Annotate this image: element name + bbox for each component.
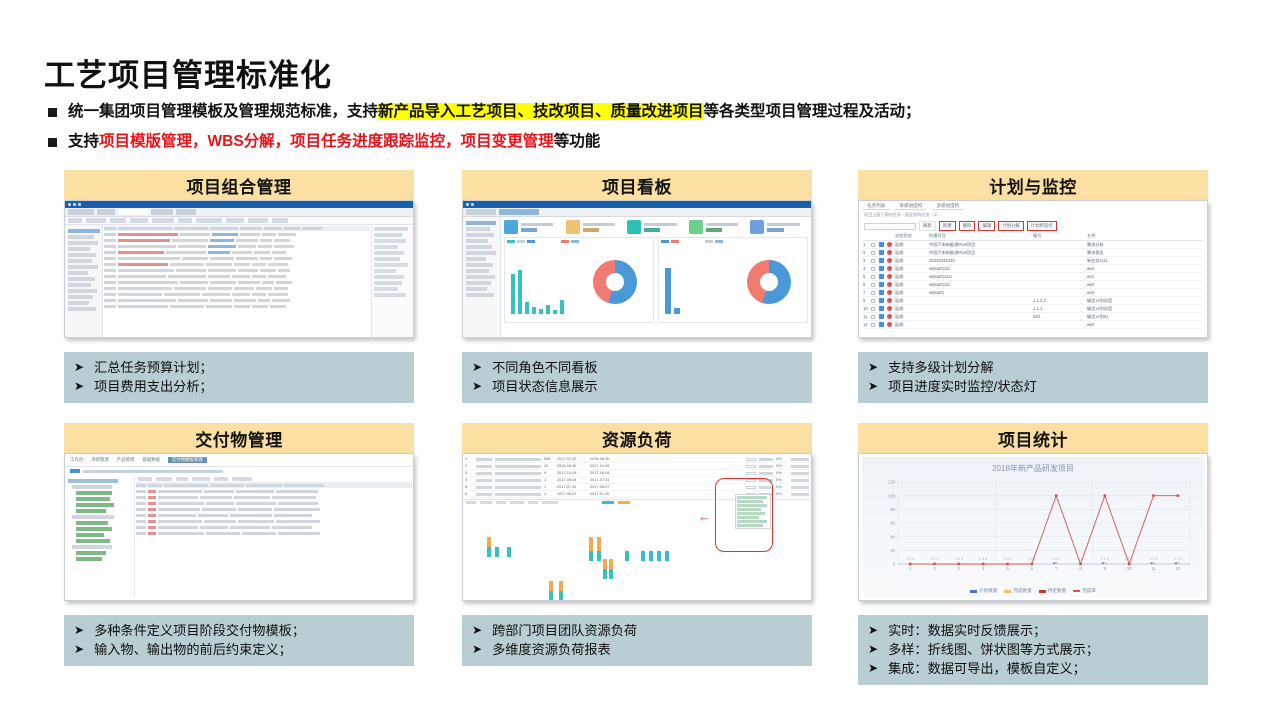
bullet-1-seg-3: 等各类型项目管理过程及活动； <box>704 103 921 120</box>
table-row[interactable]: 9延期1.1.2.2确定计划进度 <box>863 297 1203 305</box>
arrow-bullet-icon: ➤ <box>472 640 482 658</box>
kpi-card[interactable] <box>627 220 685 234</box>
caption-text: 项目状态信息展示 <box>492 377 598 396</box>
cell-name: ws4 <box>1087 266 1203 271</box>
caption-text: 支持多级计划分解 <box>888 358 994 377</box>
page-title: 工艺项目管理标准化 <box>44 50 332 95</box>
table-row[interactable] <box>104 244 370 249</box>
row-number: 7 <box>863 290 871 295</box>
bullet-text-1: 统一集团项目管理模板及管理规范标准，支持新产品导入工艺项目、技改项目、质量改进项… <box>68 102 921 121</box>
grid-toolbar[interactable] <box>136 476 412 483</box>
refresh-button[interactable]: 刷新 <box>919 221 936 231</box>
caption-text: 输入物、输出物的前后约束定义； <box>94 640 292 659</box>
caption-text: 跨部门项目团队资源负荷 <box>492 621 637 640</box>
kanban-panel-left[interactable] <box>504 237 654 323</box>
caption-line: ➤ 输入物、输出物的前后约束定义； <box>74 640 408 659</box>
arrow-bullet-icon: ➤ <box>868 659 878 677</box>
table-row[interactable] <box>104 268 370 273</box>
cell-name: 确定计划进度 <box>1087 298 1203 304</box>
card-plan-and-monitor: 计划与监控 任务列表 单级进度构 多级进度构 项目上报 | 我的任务 › 我此刻… <box>858 170 1208 403</box>
cell-project: 33333333333 <box>929 258 1033 263</box>
svg-text:6: 6 <box>1031 566 1034 571</box>
deliverables-body <box>65 475 413 597</box>
table-row[interactable] <box>136 489 412 494</box>
right-properties-panel[interactable] <box>371 225 413 337</box>
slide-root: 工艺项目管理标准化 统一集团项目管理模板及管理规范标准，支持新产品导入工艺项目、… <box>0 0 1280 720</box>
svg-text:2 2 0: 2 2 0 <box>1150 557 1158 561</box>
caption-text: 多维度资源负荷报表 <box>492 640 611 659</box>
kanban-body <box>463 217 811 337</box>
cell-status: 延期 <box>895 322 929 328</box>
cell-name: 需求分析 <box>1087 242 1203 248</box>
table-row[interactable] <box>136 501 412 506</box>
window-titlebar <box>463 201 811 208</box>
tab-single-level[interactable]: 单级进度构 <box>895 203 926 210</box>
table-row[interactable]: 12延期ws2 <box>863 321 1203 329</box>
table-row[interactable] <box>104 286 370 291</box>
row-number: 1 <box>863 242 871 247</box>
svg-text:80: 80 <box>890 507 895 512</box>
svg-text:0 0 0: 0 0 0 <box>979 557 987 561</box>
table-row[interactable] <box>104 292 370 297</box>
caption-project-kanban: ➤ 不同角色不同看板 ➤ 项目状态信息展示 <box>462 352 812 403</box>
panel-legend <box>507 240 651 243</box>
cell-name: 需求报告 <box>1087 250 1203 256</box>
arrow-bullet-icon: ➤ <box>472 377 482 395</box>
row-number: 9 <box>863 298 871 303</box>
left-tree[interactable] <box>65 475 135 597</box>
portfolio-data-grid[interactable] <box>103 225 371 337</box>
table-header-row: 流程状态 所属项目 编号 名称 <box>863 233 1203 241</box>
col-status: 流程状态 <box>895 233 929 239</box>
bullet-text-2: 支持项目模版管理，WBS分解，项目任务进度跟踪监控，项目变更管理等功能 <box>68 132 600 151</box>
caption-line: ➤ 支持多级计划分解 <box>868 358 1202 377</box>
deliverables-grid[interactable] <box>135 475 413 597</box>
svg-text:1 1 0: 1 1 0 <box>1101 557 1109 561</box>
table-row[interactable]: 2延期中国汽车新能源PLM项目需求报告 <box>863 249 1203 257</box>
table-row[interactable]: 392017-10-092017-09-040% <box>465 470 809 477</box>
plan-decompose-button[interactable]: 计划分解 <box>998 221 1024 231</box>
row-number: 4 <box>863 266 871 271</box>
kpi-card[interactable] <box>566 220 624 234</box>
cell-project: wdsw01111 <box>929 266 1033 271</box>
cell-status: 延期 <box>895 250 929 256</box>
cell-status: 延期 <box>895 258 929 264</box>
svg-text:0 0 0: 0 0 0 <box>1077 557 1085 561</box>
arrow-bullet-icon: ➤ <box>74 358 84 376</box>
table-row[interactable] <box>136 519 412 524</box>
caption-line: ➤ 项目进度实时监控/状态灯 <box>868 377 1202 396</box>
bullet-1-seg-2-highlight: 新产品导入工艺项目、技改项目、质量改进项目 <box>378 103 704 120</box>
kanban-panel-right[interactable] <box>658 237 808 323</box>
card-header-plan-and-monitor: 计划与监控 <box>858 170 1208 200</box>
card-header-project-statistics: 项目统计 <box>858 423 1208 453</box>
card-header-project-portfolio: 项目组合管理 <box>64 170 414 200</box>
table-row[interactable] <box>104 298 370 303</box>
card-row-1: 项目组合管理 <box>0 170 1280 425</box>
svg-text:3: 3 <box>958 566 961 571</box>
screenshot-project-portfolio[interactable] <box>64 200 414 338</box>
edit-button[interactable]: 编辑 <box>978 221 995 231</box>
caption-text: 多种条件定义项目阶段交付物模板； <box>94 621 305 640</box>
svg-text:1: 1 <box>909 566 912 571</box>
cell-status: 延期 <box>895 290 929 296</box>
svg-text:12: 12 <box>1175 566 1180 571</box>
screenshot-project-kanban[interactable] <box>462 200 812 338</box>
panel-legend <box>661 240 805 243</box>
svg-text:60: 60 <box>890 521 895 526</box>
caption-plan-and-monitor: ➤ 支持多级计划分解 ➤ 项目进度实时监控/状态灯 <box>858 352 1208 403</box>
context-dropdown[interactable] <box>735 494 771 529</box>
bullet-list: 统一集团项目管理模板及管理规范标准，支持新产品导入工艺项目、技改项目、质量改进项… <box>48 102 1248 163</box>
arrow-bullet-icon: ➤ <box>74 640 84 658</box>
svg-text:40: 40 <box>890 534 895 539</box>
svg-text:8: 8 <box>1079 566 1082 571</box>
chart-legend: 计划数量完成数量待定数量完成率 <box>862 588 1204 594</box>
table-row[interactable] <box>136 513 412 518</box>
card-header-resource-load: 资源负荷 <box>462 423 812 453</box>
cell-name: 确定计划进度 <box>1087 306 1203 312</box>
red-arrow-icon: ← <box>698 510 711 523</box>
legend-item: 待定数量 <box>1039 588 1066 594</box>
caption-line: ➤ 跨部门项目团队资源负荷 <box>472 621 806 640</box>
col-project: 所属项目 <box>929 233 1033 239</box>
cell-status: 延期 <box>895 274 929 280</box>
card-header-project-kanban: 项目看板 <box>462 170 812 200</box>
caption-line: ➤ 多样：折线图、饼状图等方式展示； <box>868 640 1202 659</box>
bullet-2-seg-2-red: 项目模版管理，WBS分解，项目任务进度跟踪监控，项目变更管理 <box>99 133 554 150</box>
col-code: 编号 <box>1033 233 1087 239</box>
table-row[interactable]: 5延期wdsw011111ws1 <box>863 273 1203 281</box>
task-table[interactable]: 流程状态 所属项目 编号 名称 1延期中国汽车新能源PLM项目需求分析2延期中国… <box>859 233 1207 329</box>
svg-text:20: 20 <box>890 548 895 553</box>
secondary-toolbar[interactable] <box>65 217 413 225</box>
arrow-bullet-icon: ➤ <box>472 621 482 639</box>
kpi-card[interactable] <box>689 220 747 234</box>
row-number: 6 <box>863 282 871 287</box>
svg-text:120: 120 <box>888 480 896 485</box>
table-row[interactable]: 3延期33333333333新任务1111 <box>863 257 1203 265</box>
svg-text:4: 4 <box>982 566 985 571</box>
table-row[interactable] <box>136 525 412 530</box>
table-row[interactable]: 15082017-07-202018-06-300% <box>465 456 809 463</box>
bullet-item-2: 支持项目模版管理，WBS分解，项目任务进度跟踪监控，项目变更管理等功能 <box>48 132 1248 151</box>
caption-text: 汇总任务预算计划； <box>94 358 213 377</box>
left-tree-nav[interactable] <box>65 225 103 337</box>
table-row[interactable] <box>104 304 370 309</box>
svg-text:2: 2 <box>933 566 936 571</box>
table-row[interactable]: 2422018-06-302017-10-090% <box>465 463 809 470</box>
chart-plot-area: 02040608010012010 0 020 0 030 0 040 0 05… <box>868 474 1204 586</box>
tree-breadcrumb <box>65 467 413 475</box>
caption-text: 多样：折线图、饼状图等方式展示； <box>888 640 1099 659</box>
card-deliverables: 交付物管理 工作台 项目管理 产品管理 基础数据 交付物模板管理 <box>64 423 414 666</box>
cell-project: wdsw011111 <box>929 274 1033 279</box>
arrow-bullet-icon: ➤ <box>868 640 878 658</box>
cell-status: 延期 <box>895 314 929 320</box>
kanban-main <box>501 217 811 337</box>
cell-status: 延期 <box>895 242 929 248</box>
svg-text:2 2 0: 2 2 0 <box>1052 557 1060 561</box>
cell-status: 延期 <box>895 298 929 304</box>
card-project-kanban: 项目看板 <box>462 170 812 403</box>
table-row[interactable] <box>104 238 370 243</box>
card-project-statistics: 项目统计 2018年新产品研发项目 02040608010012010 0 02… <box>858 423 1208 685</box>
row-number: 2 <box>863 250 871 255</box>
tab-project-mgmt[interactable]: 项目管理 <box>91 457 109 463</box>
arrow-bullet-icon: ➤ <box>868 377 878 395</box>
cell-status: 延期 <box>895 282 929 288</box>
legend-item: 完成数量 <box>1004 588 1031 594</box>
window-titlebar <box>65 201 413 208</box>
caption-line: ➤ 多维度资源负荷报表 <box>472 640 806 659</box>
table-row[interactable] <box>104 256 370 261</box>
plan-monitor-button[interactable]: 计划和监控 <box>1027 221 1057 231</box>
new-button[interactable]: 新建 <box>939 221 956 231</box>
table-row[interactable]: 6延期wdsw01111ws2 <box>863 281 1203 289</box>
table-toolbar[interactable]: 刷新 新建 删除 编辑 计划分解 计划和监控 <box>859 220 1207 233</box>
table-row[interactable] <box>136 531 412 536</box>
caption-text: 项目费用支出分析； <box>94 377 213 396</box>
arrow-bullet-icon: ➤ <box>74 377 84 395</box>
svg-text:0 0 0: 0 0 0 <box>1004 557 1012 561</box>
card-row-2: 交付物管理 工作台 项目管理 产品管理 基础数据 交付物模板管理 <box>0 423 1280 678</box>
svg-text:0: 0 <box>893 562 896 567</box>
arrow-bullet-icon: ➤ <box>472 358 482 376</box>
row-number: 12 <box>863 322 871 327</box>
svg-text:100: 100 <box>888 493 896 498</box>
ribbon-toolbar[interactable] <box>65 208 413 217</box>
caption-text: 项目进度实时监控/状态灯 <box>888 377 1037 396</box>
cell-code: 1.1.1 <box>1033 306 1087 311</box>
caption-line: ➤ 不同角色不同看板 <box>472 358 806 377</box>
table-row[interactable]: 4延期wdsw01111ws4 <box>863 265 1203 273</box>
cell-name: ws2 <box>1087 322 1203 327</box>
card-project-portfolio: 项目组合管理 <box>64 170 414 403</box>
col-name: 名称 <box>1087 233 1203 239</box>
legend-item: 完成率 <box>1073 588 1096 594</box>
table-row[interactable] <box>136 495 412 500</box>
screenshot-project-statistics[interactable]: 2018年新产品研发项目 02040608010012010 0 020 0 0… <box>858 453 1208 601</box>
svg-text:11: 11 <box>1151 566 1156 571</box>
cell-code: 1.1.2.2 <box>1033 298 1087 303</box>
bullet-1-seg-1: 统一集团项目管理模板及管理规范标准，支持 <box>68 103 378 120</box>
cell-name: ws2 <box>1087 282 1203 287</box>
table-row[interactable]: 10延期1.1.1确定计划进度 <box>863 305 1203 313</box>
svg-text:7: 7 <box>1055 566 1058 571</box>
card-resource-load: 资源负荷 15082017-07-202018-06-300%2422018-0… <box>462 423 812 666</box>
bullet-square-icon <box>48 108 57 117</box>
caption-line: ➤ 实时：数据实时反馈展示； <box>868 621 1202 640</box>
svg-text:5: 5 <box>1006 566 1009 571</box>
tab-product-mgmt[interactable]: 产品管理 <box>117 457 135 463</box>
kpi-card[interactable] <box>504 220 562 234</box>
svg-text:0 0 0: 0 0 0 <box>1125 557 1133 561</box>
cell-name: 新任务1111 <box>1087 258 1203 264</box>
caption-text: 实时：数据实时反馈展示； <box>888 621 1046 640</box>
row-number: 5 <box>863 274 871 279</box>
delete-button[interactable]: 删除 <box>959 221 976 231</box>
portfolio-body <box>65 225 413 337</box>
table-row[interactable] <box>104 274 370 279</box>
svg-text:0 0 0: 0 0 0 <box>931 557 939 561</box>
tabbar[interactable]: 工作台 项目管理 产品管理 基础数据 交付物模板管理 <box>65 454 413 467</box>
tab-task-list[interactable]: 任务列表 <box>863 203 889 210</box>
caption-project-portfolio: ➤ 汇总任务预算计划； ➤ 项目费用支出分析； <box>64 352 414 403</box>
tab-multi-level[interactable]: 多级进度构 <box>932 203 963 210</box>
kpi-card[interactable] <box>750 220 808 234</box>
table-row[interactable] <box>104 232 370 237</box>
bullet-2-seg-3: 等功能 <box>554 133 601 150</box>
screenshot-plan-and-monitor[interactable]: 任务列表 单级进度构 多级进度构 项目上报 | 我的任务 › 我此刻的任务（1/… <box>858 200 1208 338</box>
card-header-deliverables: 交付物管理 <box>64 423 414 453</box>
kpi-row <box>501 217 811 237</box>
table-row[interactable]: 1延期中国汽车新能源PLM项目需求分析 <box>863 241 1203 249</box>
caption-deliverables: ➤ 多种条件定义项目阶段交付物模板； ➤ 输入物、输出物的前后约束定义； <box>64 615 414 666</box>
caption-project-statistics: ➤ 实时：数据实时反馈展示； ➤ 多样：折线图、饼状图等方式展示； ➤ 集成：数… <box>858 615 1208 685</box>
mini-bar-chart <box>511 268 564 314</box>
cell-status: 延期 <box>895 306 929 312</box>
caption-line: ➤ 项目状态信息展示 <box>472 377 806 396</box>
caption-line: ➤ 项目费用支出分析； <box>74 377 408 396</box>
cell-project: 中国汽车新能源PLM项目 <box>929 250 1033 256</box>
tab-workbench[interactable]: 工作台 <box>70 457 83 463</box>
card-grid: 项目组合管理 <box>0 170 1280 678</box>
arrow-bullet-icon: ➤ <box>74 621 84 639</box>
bullet-2-seg-1: 支持 <box>68 133 99 150</box>
chart-title: 2018年新产品研发项目 <box>868 463 1198 474</box>
svg-text:9: 9 <box>1104 566 1107 571</box>
cell-project: 中国汽车新能源PLM项目 <box>929 242 1033 248</box>
donut-chart <box>747 260 791 304</box>
table-row[interactable] <box>136 507 412 512</box>
arrow-bullet-icon: ➤ <box>868 358 878 376</box>
line-chart[interactable]: 2018年新产品研发项目 02040608010012010 0 020 0 0… <box>862 457 1204 597</box>
left-menu-nav[interactable] <box>463 217 501 337</box>
kanban-panels <box>501 237 811 323</box>
cell-name: 确定计划01 <box>1087 314 1203 320</box>
caption-line: ➤ 多种条件定义项目阶段交付物模板； <box>74 621 408 640</box>
table-row[interactable] <box>104 280 370 285</box>
legend-item: 计划数量 <box>970 588 997 594</box>
donut-chart <box>593 260 637 304</box>
screenshot-deliverables[interactable]: 工作台 项目管理 产品管理 基础数据 交付物模板管理 <box>64 453 414 601</box>
caption-line: ➤ 汇总任务预算计划； <box>74 358 408 377</box>
tab-basic-data[interactable]: 基础数据 <box>142 457 160 463</box>
cell-name: ws3 <box>1087 290 1203 295</box>
svg-text:1 1 0: 1 1 0 <box>1174 557 1182 561</box>
bullet-square-icon <box>48 138 57 147</box>
tabbar[interactable]: 任务列表 单级进度构 多级进度构 <box>859 201 1207 210</box>
bullet-item-1: 统一集团项目管理模板及管理规范标准，支持新产品导入工艺项目、技改项目、质量改进项… <box>48 102 1248 121</box>
svg-text:10: 10 <box>1127 566 1132 571</box>
table-row[interactable]: 7延期wdsw01ws3 <box>863 289 1203 297</box>
svg-text:0 0 0: 0 0 0 <box>1028 557 1036 561</box>
row-number: 3 <box>863 258 871 263</box>
cell-project: wdsw01 <box>929 290 1033 295</box>
svg-text:0 0 0: 0 0 0 <box>906 557 914 561</box>
cell-name: ws1 <box>1087 274 1203 279</box>
cell-project: wdsw01111 <box>929 282 1033 287</box>
row-number: 10 <box>863 306 871 311</box>
row-number: 11 <box>863 314 871 319</box>
cell-code: ls01 <box>1033 314 1087 319</box>
caption-resource-load: ➤ 跨部门项目团队资源负荷 ➤ 多维度资源负荷报表 <box>462 615 812 666</box>
caption-text: 集成：数据可导出，模板自定义； <box>888 659 1086 678</box>
breadcrumb: 项目上报 | 我的任务 › 我此刻的任务（1/... <box>859 210 1207 220</box>
table-row[interactable] <box>104 250 370 255</box>
browser-tabbar[interactable] <box>463 208 811 217</box>
caption-text: 不同角色不同看板 <box>492 358 598 377</box>
table-row[interactable] <box>104 262 370 267</box>
grid-header-row <box>104 226 370 231</box>
tab-deliverable-template[interactable]: 交付物模板管理 <box>168 457 207 463</box>
arrow-bullet-icon: ➤ <box>868 621 878 639</box>
svg-text:0 0 0: 0 0 0 <box>955 557 963 561</box>
caption-line: ➤ 集成：数据可导出，模板自定义； <box>868 659 1202 678</box>
grid-header-row <box>136 483 412 488</box>
mini-bar-chart <box>665 268 680 314</box>
screenshot-resource-load[interactable]: 15082017-07-202018-06-300%2422018-06-302… <box>462 453 812 601</box>
cell-status: 延期 <box>895 266 929 272</box>
table-row[interactable]: 11延期ls01确定计划01 <box>863 313 1203 321</box>
